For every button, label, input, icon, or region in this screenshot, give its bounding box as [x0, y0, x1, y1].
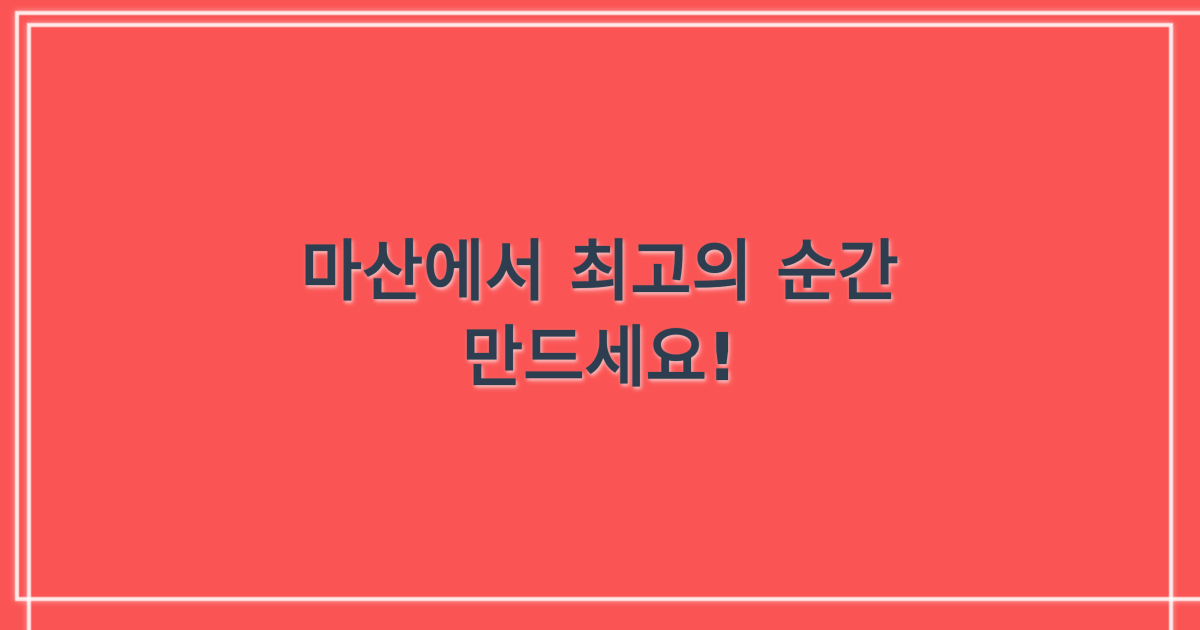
promo-banner: 마산에서 최고의 순간 만드세요!	[0, 0, 1200, 630]
banner-headline: 마산에서 최고의 순간 만드세요!	[150, 229, 1050, 401]
headline-line-2: 만드세요!	[150, 315, 1050, 401]
headline-container: 마산에서 최고의 순간 만드세요!	[0, 0, 1200, 630]
headline-line-1: 마산에서 최고의 순간	[150, 229, 1050, 315]
